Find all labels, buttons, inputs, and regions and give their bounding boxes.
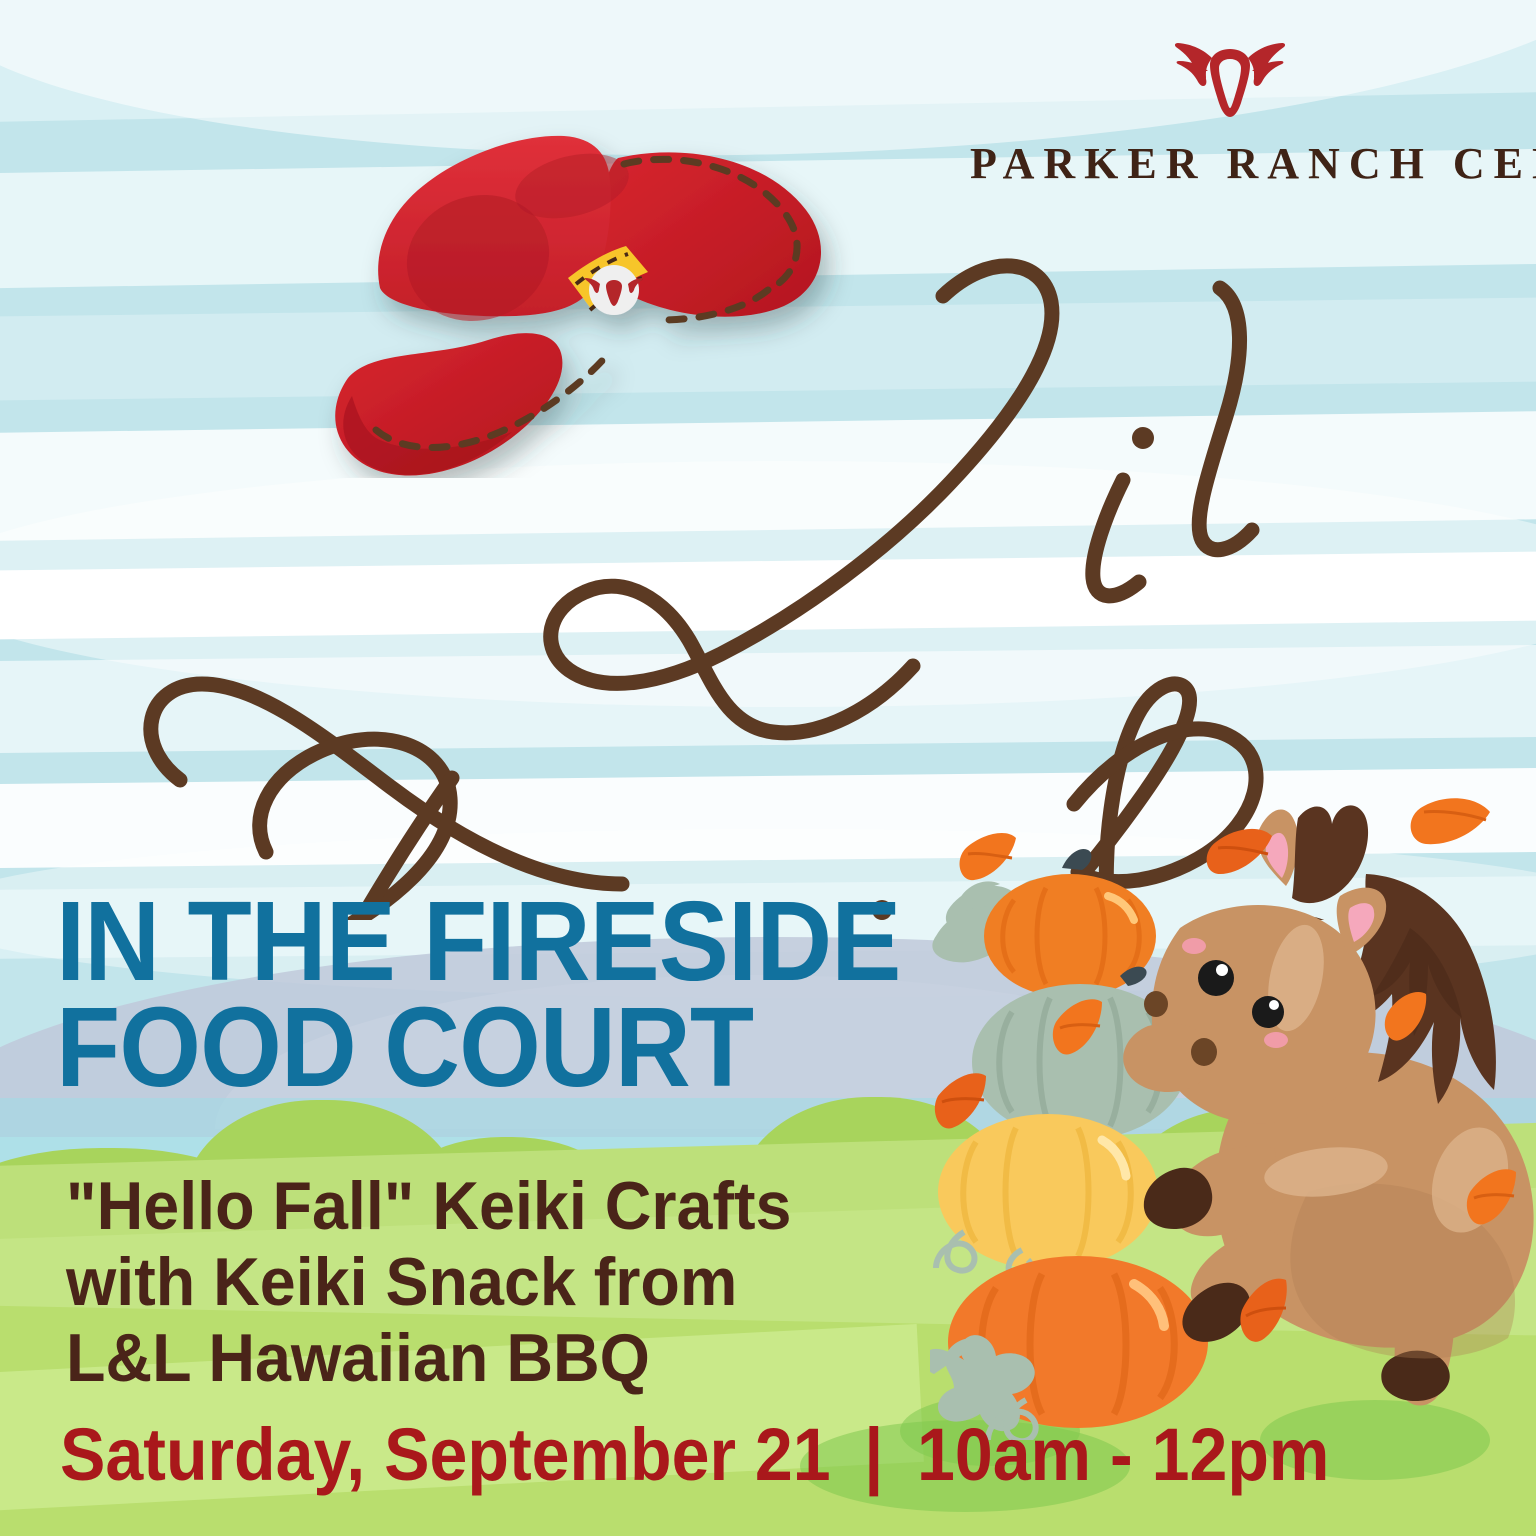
description-line-1: "Hello Fall" Keiki Crafts	[66, 1168, 921, 1244]
pony-nostril	[1144, 991, 1168, 1017]
cloud-mist	[0, 461, 1536, 707]
longhorn-steer-head-icon	[1166, 36, 1294, 128]
logo-wordmark: PARKER RANCH CENTER	[970, 138, 1490, 189]
headline-line-2: FOOD COURT	[56, 994, 1005, 1100]
poster-canvas: PARKER RANCH CENTER	[0, 0, 1536, 1536]
pony-blush-right	[1264, 1032, 1288, 1048]
event-date-time: Saturday, September 21 | 10am - 12pm	[60, 1418, 1329, 1492]
pony-eye-right-glint	[1269, 1000, 1279, 1010]
event-description: "Hello Fall" Keiki Crafts with Keiki Sna…	[66, 1168, 921, 1396]
headline: IN THE FIRESIDE FOOD COURT	[56, 888, 1005, 1100]
event-time: 10am - 12pm	[917, 1413, 1329, 1496]
pony-forelock	[1292, 805, 1368, 903]
pony-blush-left	[1182, 938, 1206, 954]
red-cowboy-hat-illustration	[318, 78, 858, 478]
pumpkin-stem	[1062, 849, 1091, 870]
description-line-3: L&L Hawaiian BBQ	[66, 1320, 921, 1396]
pony-eye-left	[1198, 960, 1234, 996]
description-line-2: with Keiki Snack from	[66, 1244, 921, 1320]
pony-eye-left-glint	[1216, 964, 1228, 976]
date-time-separator: |	[850, 1418, 899, 1492]
event-date: Saturday, September 21	[60, 1413, 831, 1496]
hat-group	[335, 136, 821, 476]
pony-eye-right	[1252, 996, 1284, 1028]
headline-line-1: IN THE FIRESIDE	[56, 888, 1005, 994]
cartoon-pony-illustration	[1120, 800, 1536, 1440]
pony-nostril	[1191, 1038, 1217, 1066]
parker-ranch-center-logo[interactable]: PARKER RANCH CENTER	[970, 36, 1490, 189]
